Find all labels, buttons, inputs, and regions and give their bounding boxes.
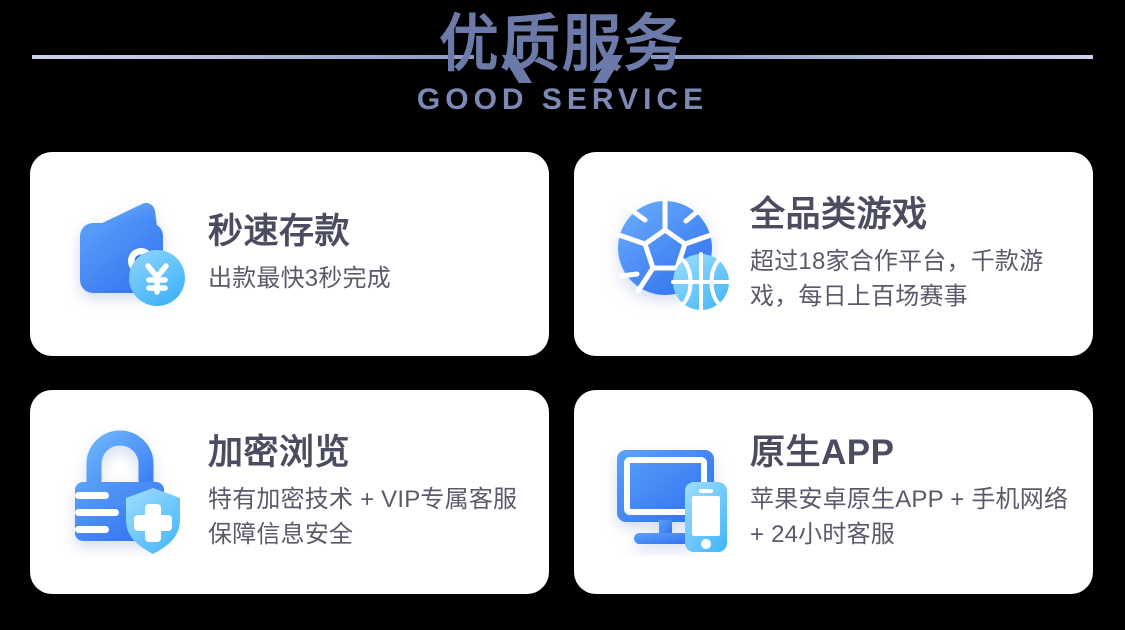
soccer-basketball-icon	[596, 179, 746, 329]
wallet-yen-icon	[52, 179, 202, 329]
monitor-phone-icon	[596, 417, 746, 567]
card-description: 出款最快3秒完成	[208, 262, 531, 296]
card-description: 苹果安卓原生APP + 手机网络 + 24小时客服	[750, 483, 1075, 551]
header-title-block: 优质服务 GOOD SERVICE	[0, 0, 1125, 115]
card-title: 原生APP	[750, 432, 1075, 474]
lock-shield-icon	[52, 417, 202, 567]
feature-card-grid: 秒速存款 出款最快3秒完成	[30, 152, 1093, 594]
card-title: 加密浏览	[208, 432, 531, 474]
banner-header: 优质服务 GOOD SERVICE	[0, 0, 1125, 146]
feature-card-native-app-text: 原生APP 苹果安卓原生APP + 手机网络 + 24小时客服	[746, 432, 1075, 551]
feature-card-games[interactable]: 全品类游戏 超过18家合作平台，千款游戏，每日上百场赛事	[574, 152, 1093, 356]
feature-card-games-text: 全品类游戏 超过18家合作平台，千款游戏，每日上百场赛事	[746, 194, 1075, 313]
feature-card-deposit[interactable]: 秒速存款 出款最快3秒完成	[30, 152, 549, 356]
feature-card-encryption[interactable]: 加密浏览 特有加密技术 + VIP专属客服保障信息安全	[30, 390, 549, 594]
card-title: 全品类游戏	[750, 194, 1075, 236]
page-subtitle: GOOD SERVICE	[417, 85, 708, 115]
card-title: 秒速存款	[208, 211, 531, 253]
card-description: 超过18家合作平台，千款游戏，每日上百场赛事	[750, 245, 1075, 313]
page-title: 优质服务	[440, 8, 686, 81]
feature-card-deposit-text: 秒速存款 出款最快3秒完成	[202, 211, 531, 296]
card-description: 特有加密技术 + VIP专属客服保障信息安全	[208, 483, 531, 551]
service-feature-banner: 优质服务 GOOD SERVICE	[0, 0, 1125, 630]
feature-card-encryption-text: 加密浏览 特有加密技术 + VIP专属客服保障信息安全	[202, 432, 531, 551]
feature-card-native-app[interactable]: 原生APP 苹果安卓原生APP + 手机网络 + 24小时客服	[574, 390, 1093, 594]
